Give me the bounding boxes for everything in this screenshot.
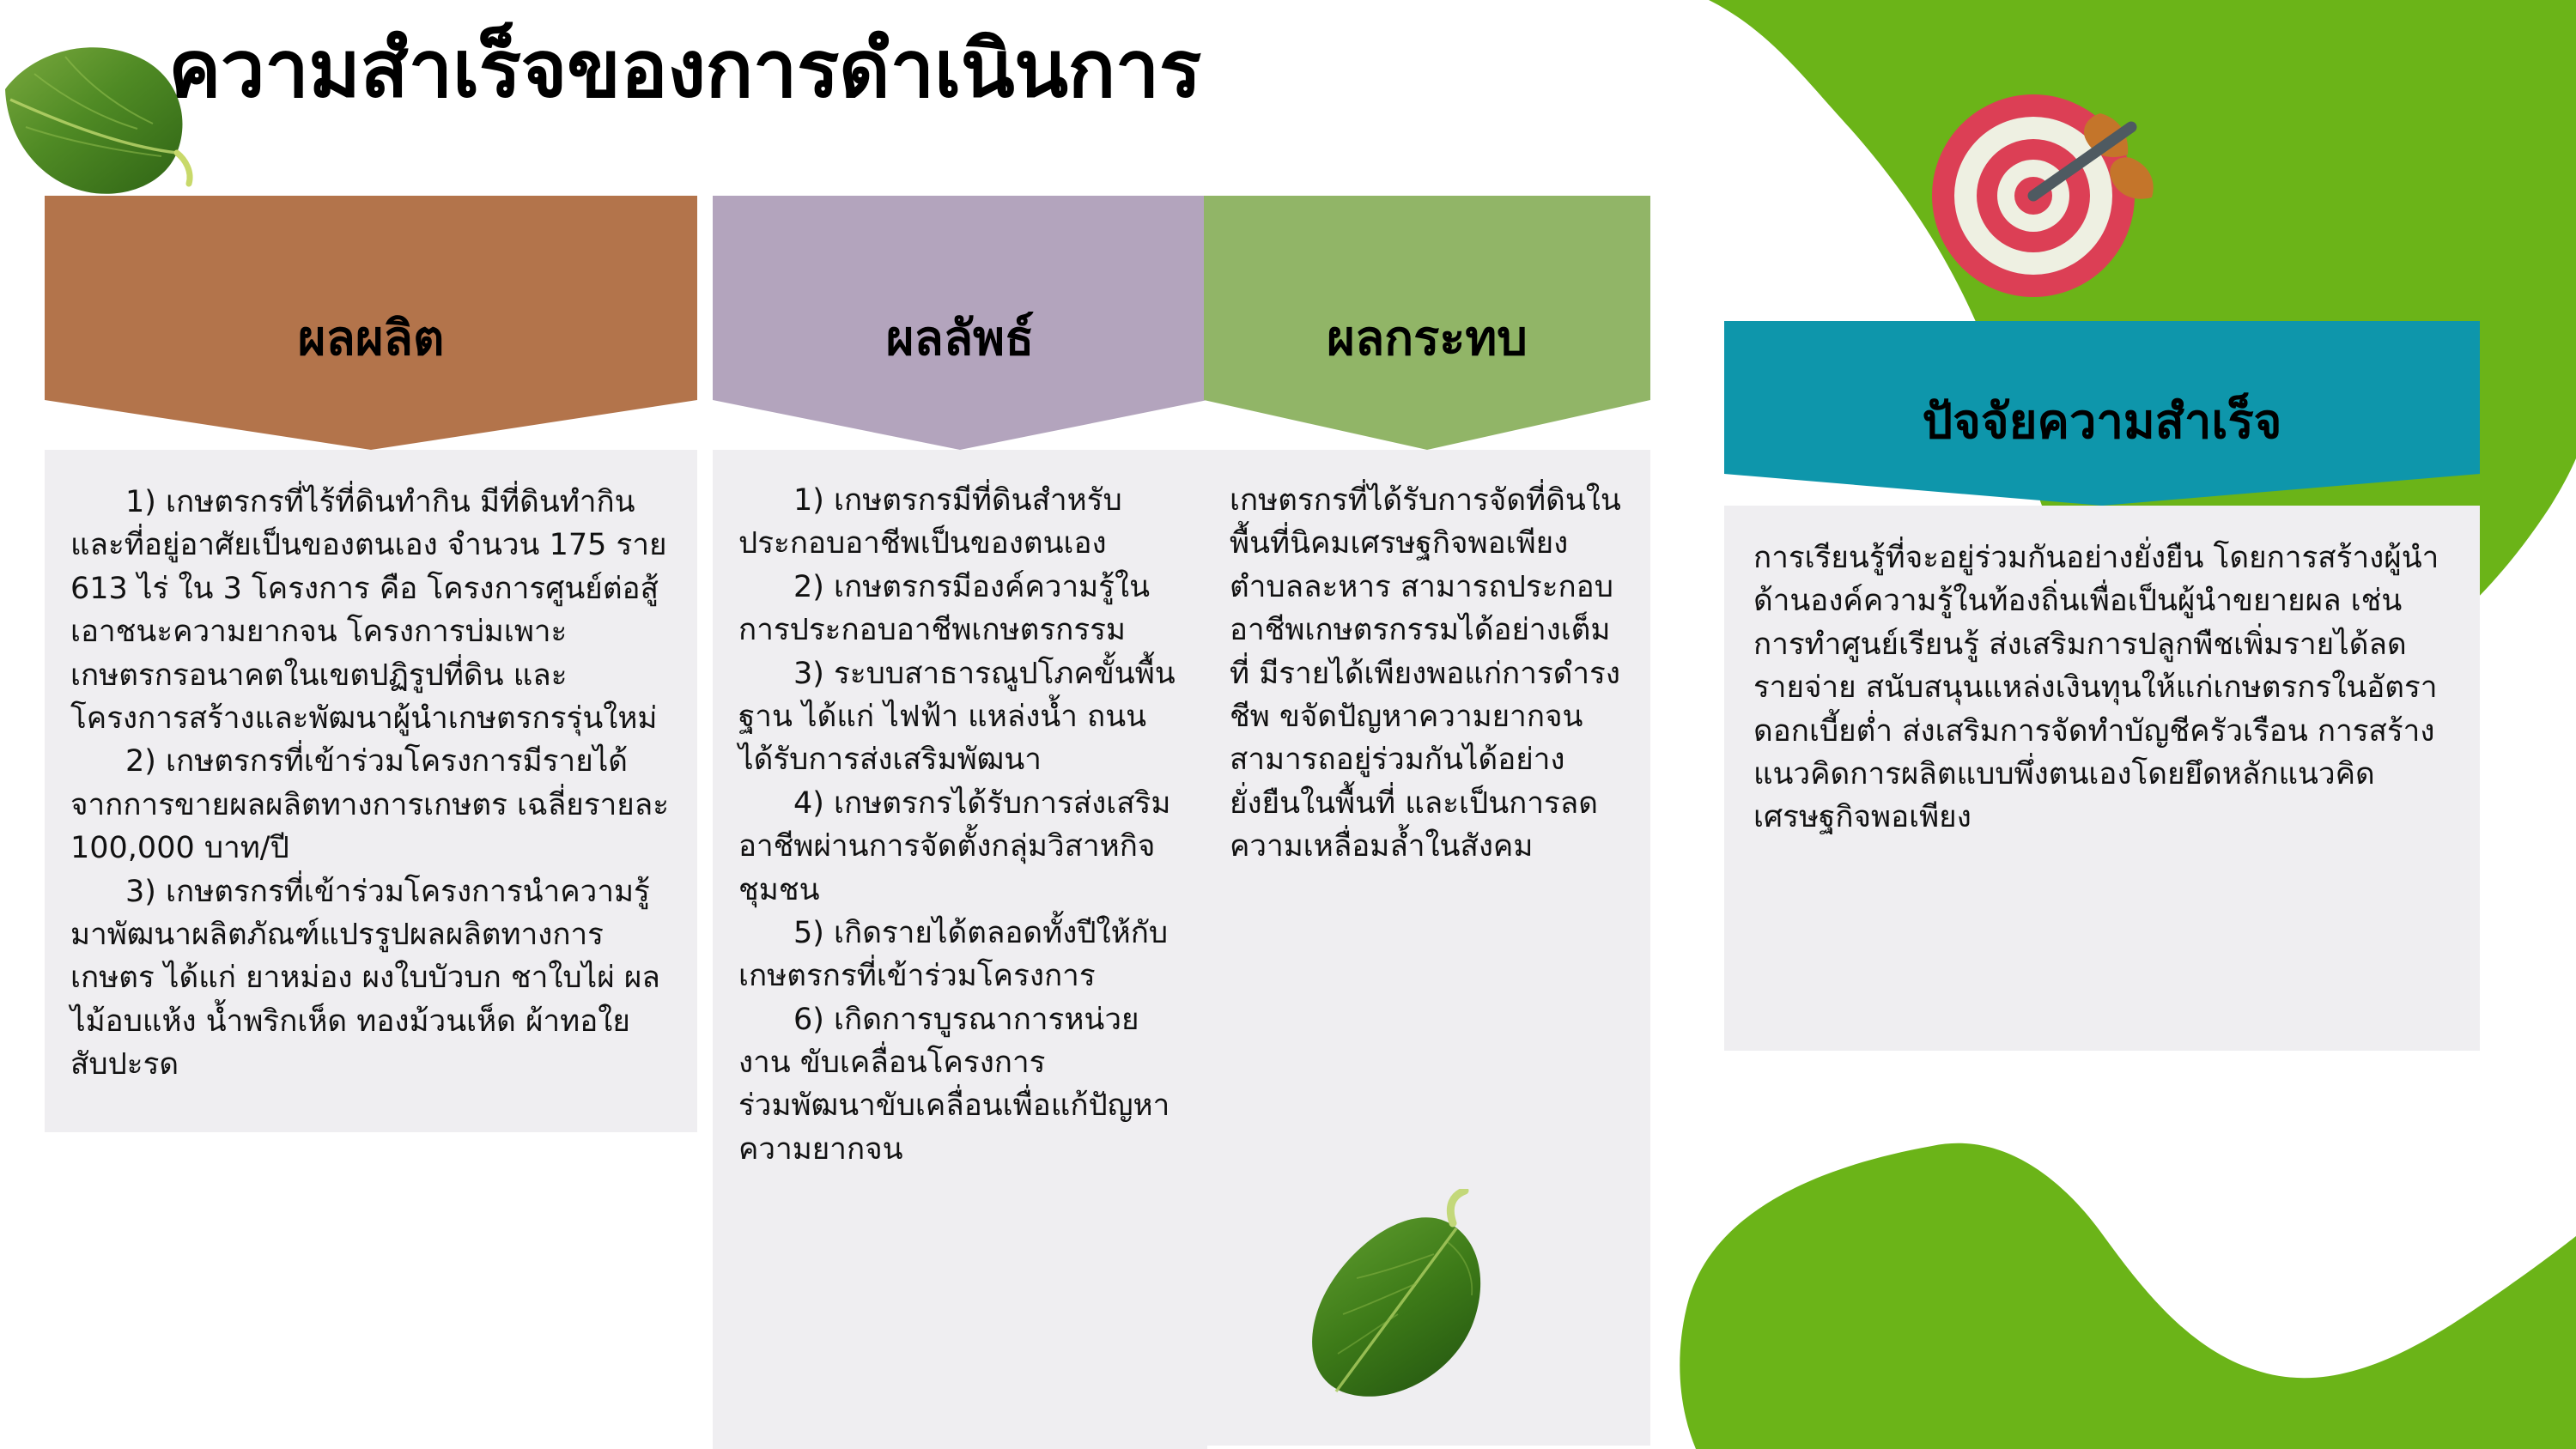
column-output-paragraph: 2) เกษตรกรที่เข้าร่วมโครงการมีรายได้จากก… [70, 740, 671, 870]
slide-canvas: ความสำเร็จของการดำเนินการ [0, 0, 2576, 1449]
column-output-paragraph: 3) เกษตรกรที่เข้าร่วมโครงการนำความรู้มาพ… [70, 870, 671, 1087]
column-success-header-label: ปัจจัยความสำเร็จ [1923, 383, 2282, 464]
column-output-header: ผลผลิต [45, 196, 697, 450]
column-success-paragraph: การเรียนรู้ที่จะอยู่ร่วมกันอย่างยั่งยืน … [1753, 537, 2451, 840]
column-outcome-header-label: ผลลัพธ์ [886, 300, 1035, 376]
column-impact-header: ผลกระทบ [1204, 196, 1650, 450]
column-outcome-paragraph: 5) เกิดรายได้ตลอดทั้งปีให้กับเกษตรกรที่เ… [738, 912, 1182, 998]
target-bullseye-icon [1923, 69, 2164, 309]
column-outcome-paragraph: 1) เกษตรกรมีที่ดินสำหรับประกอบอาชีพเป็นข… [738, 479, 1182, 566]
column-outcome-paragraph: 2) เกษตรกรมีองค์ความรู้ในการประกอบอาชีพเ… [738, 566, 1182, 652]
column-success-header: ปัจจัยความสำเร็จ [1724, 321, 2480, 506]
page-title: ความสำเร็จของการดำเนินการ [168, 24, 1201, 116]
column-impact-paragraph: เกษตรกรที่ได้รับการจัดที่ดินในพื้นที่นิค… [1230, 479, 1625, 869]
column-outcome-body: 1) เกษตรกรมีที่ดินสำหรับประกอบอาชีพเป็นข… [713, 450, 1207, 1449]
column-outcome-header: ผลลัพธ์ [713, 196, 1207, 450]
column-output-header-label: ผลผลิต [298, 300, 445, 376]
column-output-body: 1) เกษตรกรที่ไร้ที่ดินทำกิน มีที่ดินทำกิ… [45, 450, 697, 1132]
column-success: ปัจจัยความสำเร็จ การเรียนรู้ที่จะอยู่ร่ว… [1724, 321, 2480, 1051]
column-success-body: การเรียนรู้ที่จะอยู่ร่วมกันอย่างยั่งยืน … [1724, 506, 2480, 1051]
column-outcome-paragraph: 4) เกษตรกรได้รับการส่งเสริมอาชีพผ่านการจ… [738, 782, 1182, 912]
blob-bottom-right-shape [1680, 1143, 2576, 1449]
leaf-bottom-icon [1297, 1189, 1554, 1421]
column-impact-header-label: ผลกระทบ [1327, 300, 1528, 376]
column-outcome-paragraph: 6) เกิดการบูรณาการหน่วยงาน ขับเคลื่อนโคร… [738, 998, 1182, 1172]
column-outcome: ผลลัพธ์ 1) เกษตรกรมีที่ดินสำหรับประกอบอา… [713, 196, 1207, 1449]
column-outcome-paragraph: 3) ระบบสาธารณูปโภคขั้นพื้นฐาน ได้แก่ ไฟฟ… [738, 652, 1182, 782]
leaf-top-left-icon [0, 26, 197, 210]
column-output: ผลผลิต 1) เกษตรกรที่ไร้ที่ดินทำกิน มีที่… [45, 196, 697, 1132]
column-output-paragraph: 1) เกษตรกรที่ไร้ที่ดินทำกิน มีที่ดินทำกิ… [70, 481, 671, 740]
